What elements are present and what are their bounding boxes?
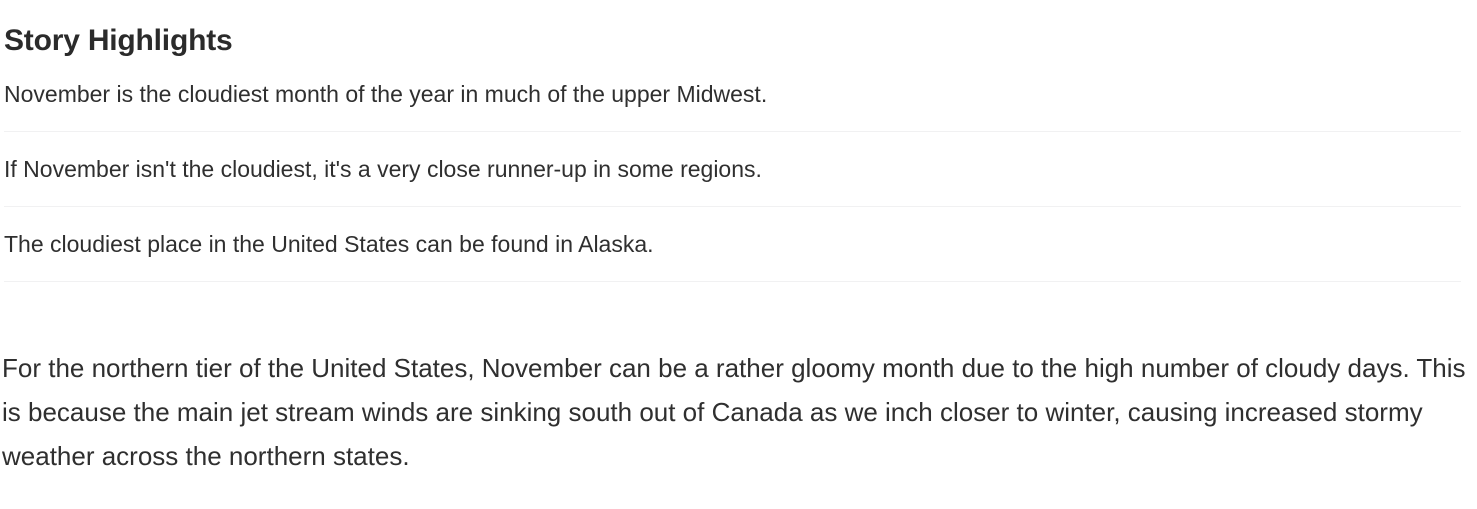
divider: [4, 281, 1461, 282]
page-title: Story Highlights: [0, 0, 1477, 56]
body-paragraph: For the northern tier of the United Stat…: [0, 290, 1476, 478]
story-highlights-section: Story Highlights November is the cloudie…: [0, 0, 1477, 478]
list-item: The cloudiest place in the United States…: [0, 215, 1477, 273]
story-highlights-list: November is the cloudiest month of the y…: [0, 56, 1477, 282]
list-item: If November isn't the cloudiest, it's a …: [0, 140, 1477, 198]
divider: [4, 131, 1461, 132]
list-item: November is the cloudiest month of the y…: [0, 56, 1477, 123]
divider: [4, 206, 1461, 207]
